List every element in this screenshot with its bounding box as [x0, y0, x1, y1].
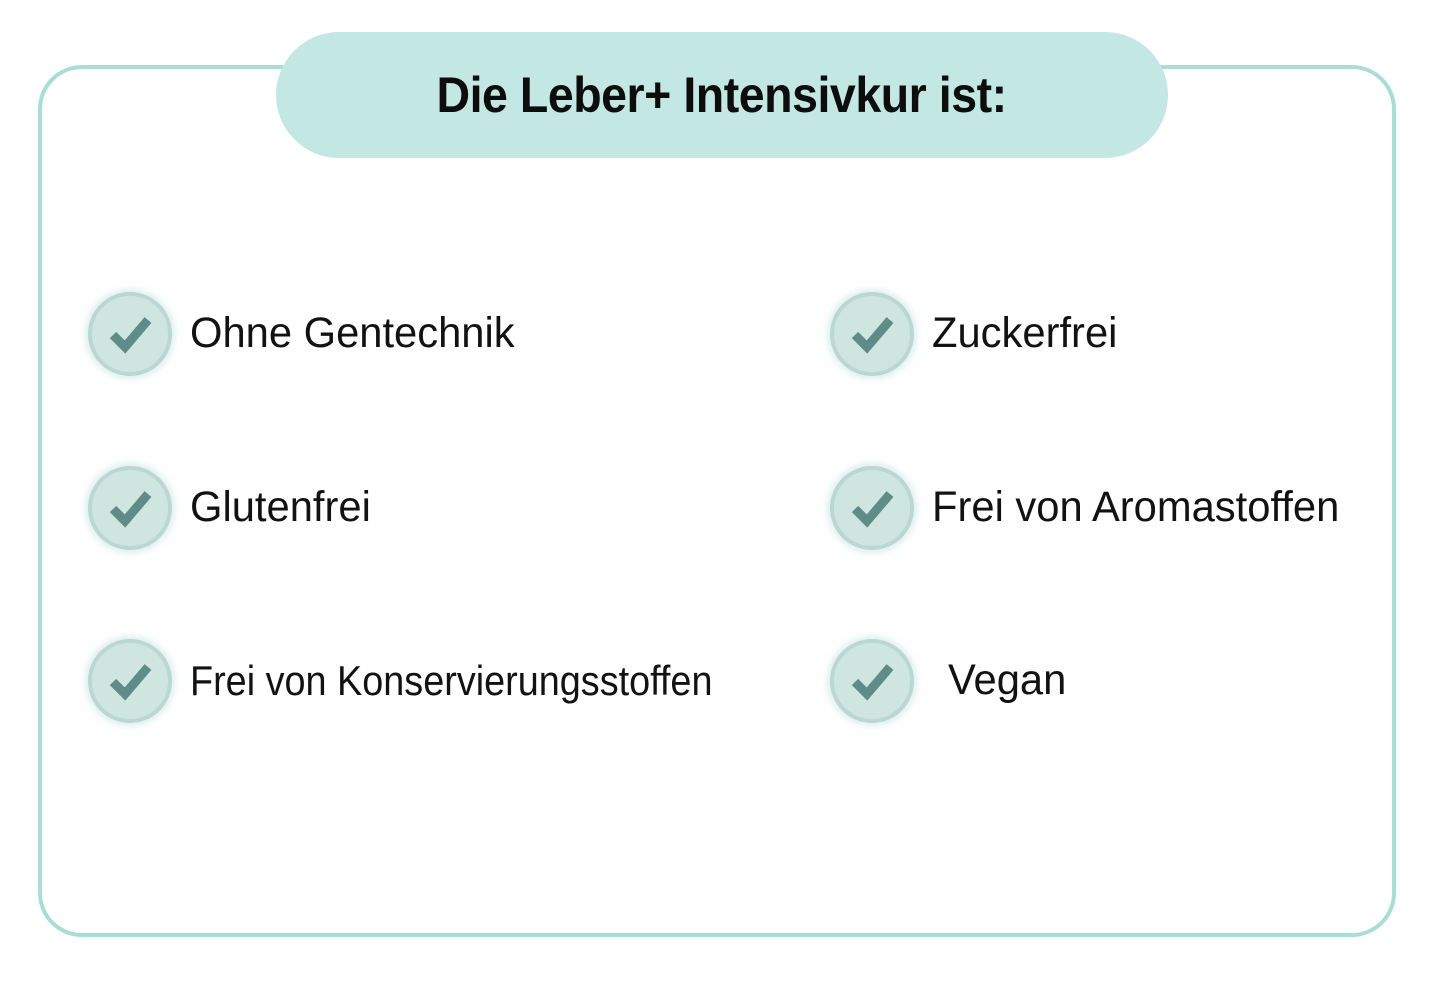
check-icon — [830, 639, 914, 723]
list-item: Frei von Konservierungsstoffen — [88, 639, 771, 723]
list-item-label: Frei von Konservierungsstoffen — [190, 659, 712, 703]
product-benefits-panel: Die Leber+ Intensivkur ist: Ohne Gentech… — [0, 0, 1440, 1000]
list-item-label: Ohne Gentechnik — [190, 311, 515, 356]
page-title: Die Leber+ Intensivkur ist: — [437, 70, 1007, 120]
list-item: Frei von Aromastoffen — [830, 466, 1352, 550]
list-item-label: Glutenfrei — [190, 485, 371, 530]
list-item-label: Frei von Aromastoffen — [932, 485, 1339, 530]
check-icon — [88, 466, 172, 550]
list-item-label: Vegan — [948, 658, 1066, 703]
panel-header-pill: Die Leber+ Intensivkur ist: — [276, 32, 1168, 158]
check-icon — [88, 292, 172, 376]
list-item: Zuckerfrei — [830, 292, 1123, 376]
list-item: Glutenfrei — [88, 466, 376, 550]
list-item: Ohne Gentechnik — [88, 292, 525, 376]
check-icon — [88, 639, 172, 723]
check-icon — [830, 292, 914, 376]
list-item-label: Zuckerfrei — [932, 311, 1117, 356]
list-item: Vegan — [830, 639, 1070, 723]
check-icon — [830, 466, 914, 550]
